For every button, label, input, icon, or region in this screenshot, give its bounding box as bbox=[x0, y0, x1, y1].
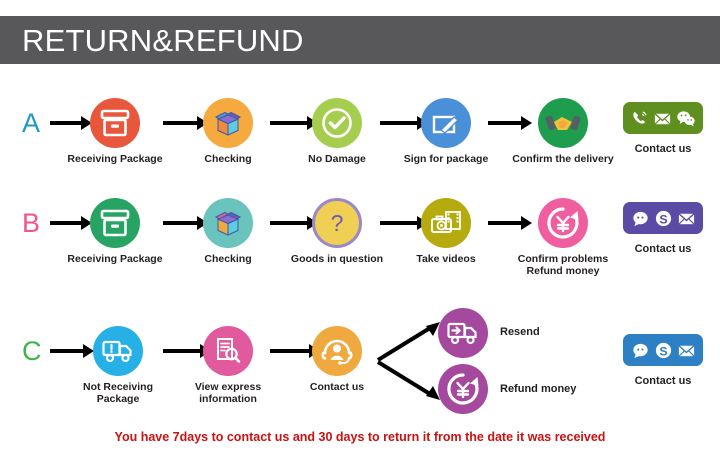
row-marker-b: B bbox=[22, 198, 40, 248]
step-label: Goods in question bbox=[288, 253, 386, 265]
package-box-icon bbox=[90, 198, 140, 248]
contact-label: Contact us bbox=[620, 243, 706, 255]
chat-bubble-icon[interactable] bbox=[631, 209, 650, 228]
step-b-receiving-package: Receiving Package bbox=[60, 198, 170, 265]
return-refund-infographic: RETURN&REFUND A Receiving Package bbox=[0, 0, 720, 464]
step-a-confirm-delivery: Confirm the delivery bbox=[508, 98, 618, 165]
delivery-truck-icon bbox=[438, 308, 488, 358]
truck-alert-icon bbox=[93, 326, 143, 376]
refund-yen-icon bbox=[538, 198, 588, 248]
document-search-icon bbox=[203, 326, 253, 376]
skype-icon[interactable]: S bbox=[654, 209, 673, 228]
package-box-icon bbox=[90, 98, 140, 148]
page-header: RETURN&REFUND bbox=[0, 16, 720, 64]
svg-text:S: S bbox=[659, 212, 667, 226]
step-label: Confirm problems Refund money bbox=[508, 253, 618, 277]
svg-text:S: S bbox=[659, 344, 667, 358]
step-a-sign-for-package: Sign for package bbox=[397, 98, 495, 165]
question-mark-icon: ? bbox=[312, 198, 362, 248]
footer-note: You have 7days to contact us and 30 days… bbox=[0, 430, 720, 444]
contact-block-a[interactable]: Contact us bbox=[620, 102, 706, 155]
step-label: Not Receiving Package bbox=[63, 381, 173, 405]
skype-icon[interactable]: S bbox=[654, 341, 673, 360]
open-box-icon bbox=[203, 198, 253, 248]
step-label: Receiving Package bbox=[60, 253, 170, 265]
envelope-icon[interactable] bbox=[677, 209, 696, 228]
step-label: View express information bbox=[178, 381, 278, 405]
step-label: Checking bbox=[178, 153, 278, 165]
step-b-confirm-refund: Confirm problems Refund money bbox=[508, 198, 618, 277]
contact-block-c[interactable]: S Contact us bbox=[620, 334, 706, 387]
branch-label-refund-money: Refund money bbox=[500, 383, 576, 395]
flow-row-b: B Receiving Package bbox=[0, 198, 720, 294]
branch-c-resend bbox=[437, 308, 489, 358]
step-label: Confirm the delivery bbox=[508, 153, 618, 165]
contact-label: Contact us bbox=[620, 143, 706, 155]
step-label: Sign for package bbox=[397, 153, 495, 165]
step-b-checking: Checking bbox=[178, 198, 278, 265]
step-a-receiving-package: Receiving Package bbox=[60, 98, 170, 165]
step-c-contact-us: Contact us bbox=[288, 326, 386, 393]
step-label: Receiving Package bbox=[60, 153, 170, 165]
step-c-view-express-information: View express information bbox=[178, 326, 278, 405]
chat-bubble-icon[interactable] bbox=[631, 341, 650, 360]
page-title: RETURN&REFUND bbox=[0, 25, 304, 56]
svg-text:?: ? bbox=[331, 210, 344, 236]
phone-icon[interactable] bbox=[630, 109, 649, 128]
branch-label-resend: Resend bbox=[500, 326, 540, 338]
step-label: No Damage bbox=[288, 153, 386, 165]
branch-c-refund-money bbox=[437, 364, 489, 414]
envelope-icon[interactable] bbox=[653, 109, 672, 128]
check-circle-icon bbox=[312, 98, 362, 148]
step-b-take-videos: Take videos bbox=[397, 198, 495, 265]
refund-yen-icon bbox=[438, 364, 488, 414]
wechat-icon[interactable] bbox=[676, 109, 696, 128]
contact-label: Contact us bbox=[620, 375, 706, 387]
flow-row-a: A Receiving Package bbox=[0, 98, 720, 186]
contact-icons-box[interactable] bbox=[623, 102, 703, 134]
flow-row-c: C Not Receiving Package bbox=[0, 308, 720, 416]
contact-block-b[interactable]: S Contact us bbox=[620, 202, 706, 255]
headset-icon bbox=[312, 326, 362, 376]
arrow-c-branch-down bbox=[376, 358, 446, 402]
step-a-checking: Checking bbox=[178, 98, 278, 165]
step-c-not-receiving-package: Not Receiving Package bbox=[63, 326, 173, 405]
open-box-icon bbox=[203, 98, 253, 148]
row-marker-a: A bbox=[22, 98, 40, 148]
step-b-goods-in-question: ? Goods in question bbox=[288, 198, 386, 265]
envelope-icon[interactable] bbox=[677, 341, 696, 360]
contact-icons-box[interactable]: S bbox=[623, 202, 703, 234]
sign-pad-icon bbox=[421, 98, 471, 148]
row-marker-c: C bbox=[22, 326, 42, 376]
contact-icons-box[interactable]: S bbox=[623, 334, 703, 366]
step-label: Contact us bbox=[288, 381, 386, 393]
handshake-icon bbox=[538, 98, 588, 148]
step-label: Take videos bbox=[397, 253, 495, 265]
step-label: Checking bbox=[178, 253, 278, 265]
camera-film-icon bbox=[421, 198, 471, 248]
step-a-no-damage: No Damage bbox=[288, 98, 386, 165]
